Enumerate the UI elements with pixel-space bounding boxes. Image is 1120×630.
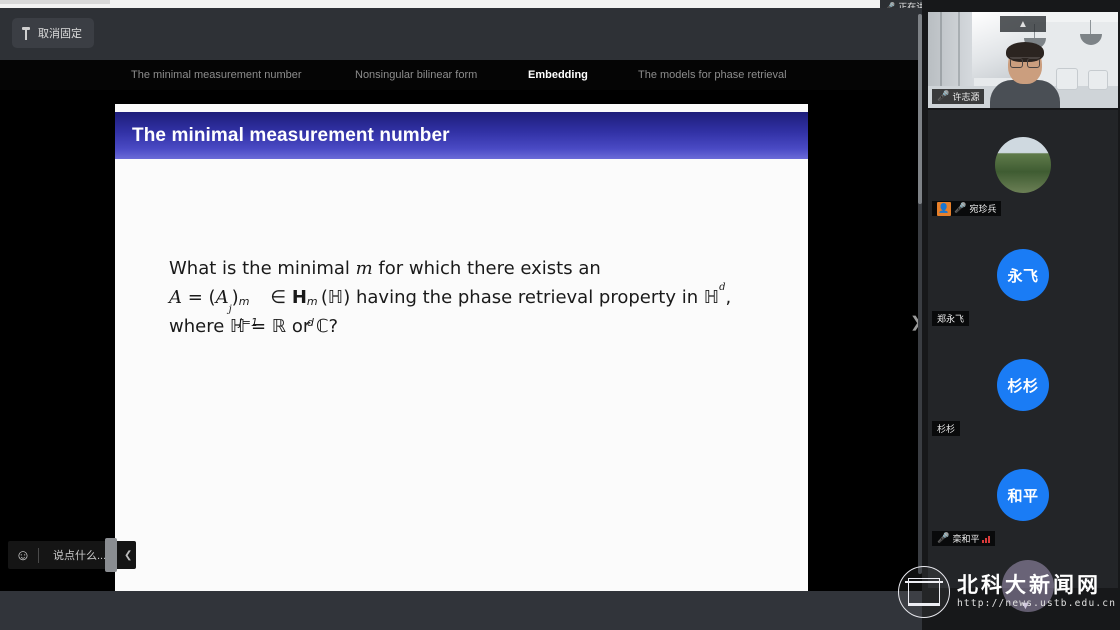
chair-shape	[1056, 68, 1078, 90]
slide-line2-Hd: ℍ	[704, 287, 719, 308]
participant-tile-4[interactable]: 杉杉 杉杉	[928, 330, 1118, 440]
window-top-strip	[0, 0, 880, 8]
beamer-nav-bar: The minimal measurement number Nonsingul…	[0, 60, 922, 90]
share-toolbar: 取消固定	[0, 8, 922, 60]
slide-line-2: A = (Aj)mj=1 ∈ Hmd(ℍ) having the phase r…	[169, 283, 779, 312]
share-resize-handle[interactable]	[105, 538, 117, 572]
slide-line3-R: ℝ	[272, 316, 286, 337]
nav-item-models-phase-retrieval[interactable]: The models for phase retrieval	[638, 69, 787, 81]
participant-name-tag: 🎤 许志源	[932, 89, 984, 104]
slide-line2-Hbold: H	[292, 287, 307, 308]
news-watermark: 北科大新闻网 http://news.ustb.edu.cn	[898, 566, 1116, 618]
chair-shape	[1088, 70, 1108, 90]
mic-off-icon: 🎤	[954, 203, 966, 214]
mic-off-icon: 🎤	[937, 533, 949, 544]
glasses-shape	[1010, 57, 1040, 65]
slide-line2-rest: having the phase retrieval property in	[350, 287, 704, 308]
unpin-button[interactable]: 取消固定	[12, 18, 94, 48]
participant-name-tag: 👤 🎤 宛珍兵	[932, 201, 1001, 216]
slide-line3-question: ?	[329, 316, 339, 337]
slide-line2-comma: ,	[726, 287, 732, 308]
slide-title: The minimal measurement number	[132, 125, 450, 147]
participant-tile-3[interactable]: 永飞 郑永飞	[928, 220, 1118, 330]
slide-line2-Aj: A	[216, 287, 229, 308]
meeting-window: 🎤 正在讲话: 许志源 取消固定 The minimal measurement…	[0, 0, 1120, 630]
nav-item-minimal-measurement[interactable]: The minimal measurement number	[131, 69, 302, 81]
slide-line-3: where ℍ = ℝ or ℂ?	[169, 312, 779, 341]
avatar: 杉杉	[997, 359, 1049, 411]
slide-body: What is the minimal m for which there ex…	[169, 254, 779, 341]
participant-name-tag: 郑永飞	[932, 311, 969, 326]
emoji-smiley-icon[interactable]: ☺	[8, 541, 38, 569]
slide-header: The minimal measurement number	[115, 112, 808, 159]
slide-line2-exp-d: d	[719, 282, 725, 293]
participant-name: 郑永飞	[937, 312, 964, 325]
presentation-slide: The minimal measurement number What is t…	[115, 104, 808, 591]
slide-line2-close-paren: )	[232, 287, 239, 308]
slide-line2-in: ∈	[265, 287, 292, 308]
nav-item-nonsingular-bilinear[interactable]: Nonsingular bilinear form	[355, 69, 477, 81]
participant-tile-5[interactable]: 和平 🎤 栾和平	[928, 440, 1118, 550]
chevron-up-icon[interactable]: ▲	[1000, 16, 1046, 32]
slide-line2-H-sub-d: d	[307, 308, 314, 337]
person-body	[990, 80, 1060, 108]
participant-name-tag: 杉杉	[932, 421, 960, 436]
share-bottom-bar	[0, 591, 922, 630]
participant-name: 栾和平	[952, 532, 979, 545]
sidebar-scrollbar-thumb[interactable]	[918, 14, 922, 204]
avatar: 和平	[997, 469, 1049, 521]
avatar: 永飞	[997, 249, 1049, 301]
participant-name-tag: 🎤 栾和平	[932, 531, 995, 546]
participant-tile-video[interactable]: ▲ 🎤 许志源	[928, 12, 1118, 108]
watermark-title: 北科大新闻网	[957, 575, 1116, 596]
signal-bars-icon	[982, 535, 990, 543]
participant-name: 许志源	[952, 90, 979, 103]
slide-line3-where: where	[169, 316, 230, 337]
nav-item-embedding[interactable]: Embedding	[528, 69, 588, 81]
slide-line1-var-m: m	[356, 258, 373, 279]
ustb-seal-icon	[898, 566, 950, 618]
watermark-url: http://news.ustb.edu.cn	[957, 598, 1116, 609]
unpin-button-label: 取消固定	[38, 25, 82, 41]
slide-line2-index-j: j	[229, 304, 232, 315]
slide-line2-calA: A	[169, 287, 182, 308]
window-top-strip-accent	[0, 0, 110, 4]
avatar	[995, 137, 1051, 193]
chevron-left-icon[interactable]: ❮	[120, 541, 136, 569]
participant-name: 宛珍兵	[969, 202, 996, 215]
participant-tile-host[interactable]: 👤 🎤 宛珍兵	[928, 110, 1118, 220]
screen-share-area: 取消固定 The minimal measurement number Nons…	[0, 8, 922, 630]
slide-line2-sub-j1: j=1	[239, 308, 258, 337]
host-person-icon: 👤	[937, 202, 951, 216]
lamp-icon	[1080, 34, 1102, 45]
slide-line1-part-a: What is the minimal	[169, 258, 356, 279]
slide-line1-part-b: for which there exists an	[373, 258, 601, 279]
slide-line-1: What is the minimal m for which there ex…	[169, 254, 779, 283]
slide-line3-C: ℂ	[316, 316, 329, 337]
pin-icon	[21, 27, 31, 40]
slide-line2-eq: = (	[182, 287, 216, 308]
slide-line2-H-arg: (ℍ)	[321, 287, 350, 308]
participant-name: 杉杉	[937, 422, 955, 435]
mic-on-icon: 🎤	[937, 91, 949, 102]
